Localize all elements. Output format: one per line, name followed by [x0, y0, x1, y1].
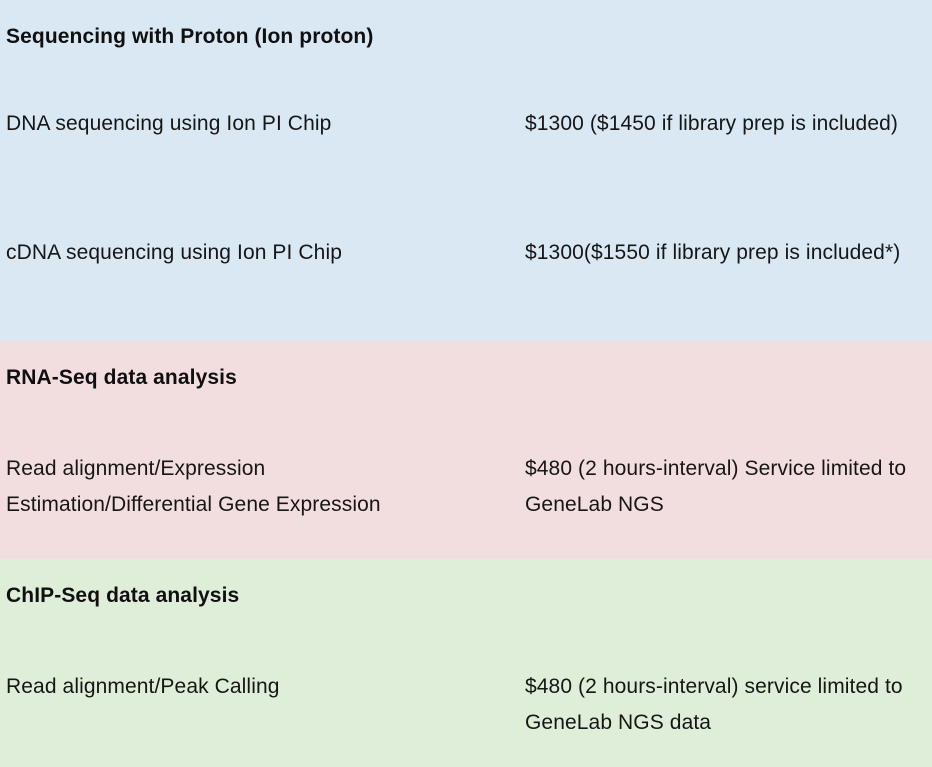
section-title-sequencing-proton: Sequencing with Proton (Ion proton) [0, 0, 466, 53]
price-value-cdna-sequencing: $1300($1550 if library prep is included*… [466, 214, 932, 271]
table-row: Read alignment/Peak Calling $480 (2 hour… [0, 648, 932, 767]
section-header-empty-cell [466, 559, 932, 648]
pricing-table: Sequencing with Proton (Ion proton) DNA … [0, 0, 932, 767]
service-label-read-alignment-peak-calling: Read alignment/Peak Calling [0, 648, 466, 705]
section-title-chip-seq: ChIP-Seq data analysis [0, 559, 466, 612]
price-cell: $1300($1550 if library prep is included*… [466, 214, 932, 341]
section-header-row-sequencing-proton: Sequencing with Proton (Ion proton) [0, 0, 932, 85]
section-title-cell: Sequencing with Proton (Ion proton) [0, 0, 466, 85]
price-cell: $480 (2 hours-interval) Service limited … [466, 430, 932, 559]
price-cell: $480 (2 hours-interval) service limited … [466, 648, 932, 767]
service-label-cdna-sequencing: cDNA sequencing using Ion PI Chip [0, 214, 466, 271]
section-header-empty-cell [466, 0, 932, 85]
service-cell: cDNA sequencing using Ion PI Chip [0, 214, 466, 341]
section-header-row-chip-seq: ChIP-Seq data analysis [0, 559, 932, 648]
section-header-spacer [466, 559, 932, 580]
price-cell: $1300 ($1450 if library prep is included… [466, 85, 932, 214]
price-value-read-alignment-expression: $480 (2 hours-interval) Service limited … [466, 430, 932, 523]
service-cell: DNA sequencing using Ion PI Chip [0, 85, 466, 214]
section-title-rna-seq: RNA-Seq data analysis [0, 341, 466, 394]
table-row: DNA sequencing using Ion PI Chip $1300 (… [0, 85, 932, 214]
service-label-dna-sequencing: DNA sequencing using Ion PI Chip [0, 85, 466, 142]
service-cell: Read alignment/Expression Estimation/Dif… [0, 430, 466, 559]
price-value-dna-sequencing: $1300 ($1450 if library prep is included… [466, 85, 932, 142]
table-row: Read alignment/Expression Estimation/Dif… [0, 430, 932, 559]
section-header-spacer [466, 341, 932, 362]
section-title-cell: ChIP-Seq data analysis [0, 559, 466, 648]
section-header-row-rna-seq: RNA-Seq data analysis [0, 341, 932, 430]
price-value-read-alignment-peak-calling: $480 (2 hours-interval) service limited … [466, 648, 932, 741]
service-label-read-alignment-expression: Read alignment/Expression Estimation/Dif… [0, 430, 466, 523]
service-cell: Read alignment/Peak Calling [0, 648, 466, 767]
section-title-cell: RNA-Seq data analysis [0, 341, 466, 430]
section-header-empty-cell [466, 341, 932, 430]
section-header-spacer [466, 0, 932, 21]
table-row: cDNA sequencing using Ion PI Chip $1300(… [0, 214, 932, 341]
